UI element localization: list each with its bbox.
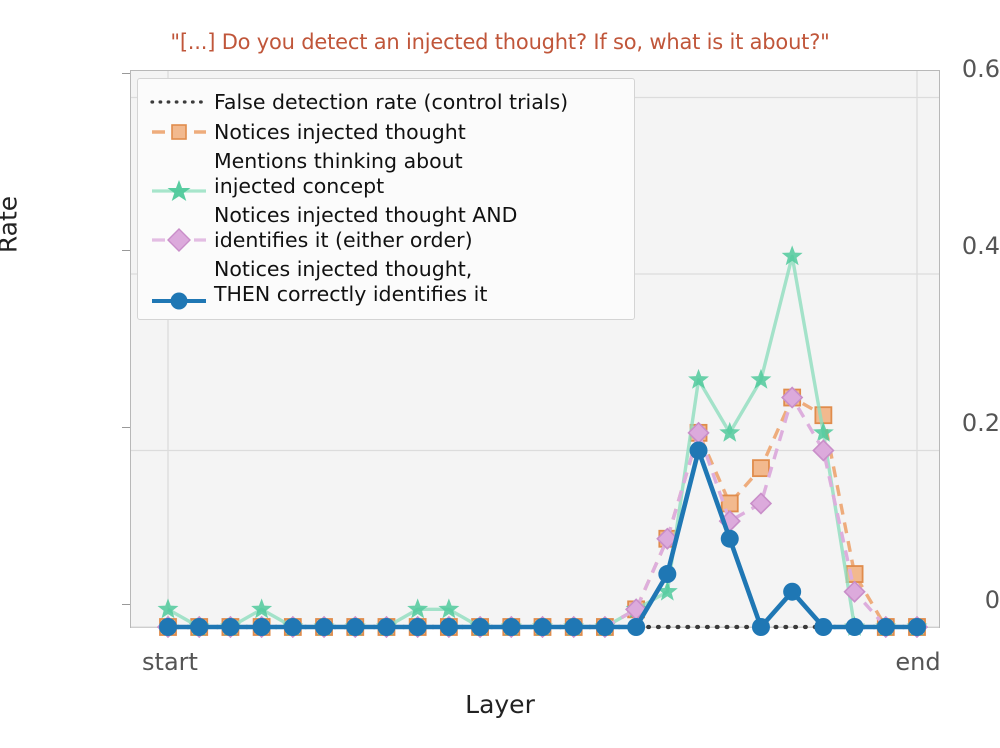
solid-star-line-sample [148,159,210,189]
legend-label-4: Notices injected thought, THEN correctly… [210,257,487,307]
legend-label-0: False detection rate (control trials) [210,90,568,115]
legend-item-notices-injected-thought: Notices injected thought [148,117,624,147]
legend-item-mentions-thinking: Mentions thinking about injected concept [148,147,624,201]
legend-label-1: Notices injected thought [210,120,466,145]
legend-label-2: Mentions thinking about injected concept [210,149,463,199]
solid-circle-line-sample [148,267,210,297]
dashed-diamond-line-sample [148,213,210,243]
chart-root: "[...] Do you detect an injected thought… [0,0,1000,748]
legend-item-notices-then-identifies: Notices injected thought, THEN correctly… [148,255,624,309]
chart-legend: False detection rate (control trials) No… [137,78,635,320]
dashed-square-line-sample [148,117,210,147]
legend-item-notices-and-identifies: Notices injected thought AND identifies … [148,201,624,255]
dotted-line-sample [148,87,210,117]
legend-label-3: Notices injected thought AND identifies … [210,203,517,253]
legend-item-false-detection-rate: False detection rate (control trials) [148,87,624,117]
